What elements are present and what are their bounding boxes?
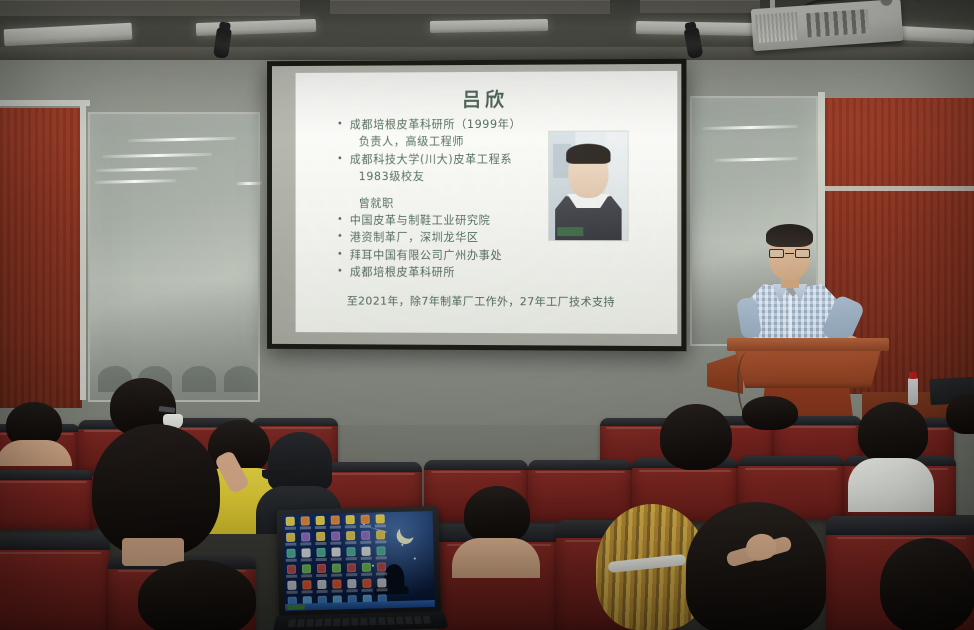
desktop-icon[interactable]	[315, 548, 326, 561]
wall-trim	[80, 100, 86, 400]
desktop-icon[interactable]	[360, 531, 371, 544]
audience-shoulders	[452, 538, 540, 578]
desktop-icon[interactable]	[377, 610, 388, 611]
desktop-icon[interactable]	[286, 581, 297, 594]
desktop-icon[interactable]	[286, 565, 297, 578]
slide-bullet: 拜耳中国有限公司广州办事处	[337, 247, 669, 265]
desktop-icon[interactable]	[345, 547, 356, 560]
audience-head-foreground	[138, 560, 256, 630]
photo-watermark	[557, 227, 583, 236]
desktop-icon[interactable]	[361, 579, 372, 592]
eyeglasses-icon	[768, 249, 811, 258]
presenter-hair	[766, 224, 813, 247]
ceiling-panel	[640, 0, 760, 13]
wall-wood-panel-left	[0, 108, 82, 408]
desktop-icon[interactable]	[316, 564, 327, 577]
seat[interactable]	[0, 470, 94, 530]
desktop-icon[interactable]	[300, 548, 311, 561]
bottle-cap	[909, 372, 917, 379]
desktop-icon[interactable]	[330, 531, 341, 544]
keyboard[interactable]	[288, 616, 433, 627]
laptop-screen[interactable]	[283, 511, 435, 611]
audience-head-foreground	[880, 538, 974, 630]
ceiling-panel	[330, 0, 610, 14]
desktop-icon[interactable]	[301, 564, 312, 577]
desktop-icon[interactable]	[345, 515, 356, 528]
projector-ports	[806, 9, 870, 37]
slide-title: 吕欣	[296, 84, 678, 113]
student-laptop[interactable]	[276, 506, 441, 630]
presentation-slide: 吕欣 成都培根皮革科研所（1999年） 负责人，高级工程师 成都科技大学(川大)…	[296, 71, 678, 334]
desktop-icon[interactable]	[346, 563, 357, 576]
desktop-icon[interactable]	[285, 517, 296, 530]
desktop-icon[interactable]	[375, 514, 386, 527]
audience-head-foreground	[92, 424, 220, 556]
desktop-icon[interactable]	[375, 530, 386, 543]
slide-footer-note: 至2021年，除7年制革厂工作外，27年工厂技术支持	[347, 293, 669, 310]
seat[interactable]	[528, 460, 632, 522]
projection-screen: 吕欣 成都培根皮革科研所（1999年） 负责人，高级工程师 成都科技大学(川大)…	[267, 59, 686, 351]
projector-knob	[880, 0, 893, 6]
audience-head	[858, 402, 928, 464]
desktop-icon[interactable]	[301, 580, 312, 593]
desktop-icon[interactable]	[330, 515, 341, 528]
desktop-icon-grid[interactable]	[285, 514, 392, 611]
cap-brim	[262, 470, 306, 481]
desktop-icon[interactable]	[376, 578, 387, 591]
wall-trim	[0, 100, 90, 106]
projector-vent	[755, 12, 799, 43]
audience-head	[660, 404, 732, 470]
desktop-icon[interactable]	[360, 515, 371, 528]
audience-head	[742, 396, 798, 430]
ceiling-panel	[0, 0, 300, 16]
desktop-icon[interactable]	[285, 549, 296, 562]
desktop-icon[interactable]	[376, 562, 387, 575]
lecture-hall-photo: 吕欣 成都培根皮革科研所（1999年） 负责人，高级工程师 成都科技大学(川大)…	[0, 0, 974, 630]
desktop-icon[interactable]	[331, 579, 342, 592]
wall-trim	[825, 186, 974, 191]
desktop-icon[interactable]	[346, 579, 357, 592]
laptop-lid	[276, 506, 441, 616]
desktop-icon[interactable]	[375, 546, 386, 559]
desktop-icon[interactable]	[315, 532, 326, 545]
water-bottle	[908, 378, 918, 405]
seat[interactable]	[0, 534, 110, 630]
desktop-icon[interactable]	[360, 547, 371, 560]
desktop-icon[interactable]	[361, 563, 372, 576]
audience-head-long-hair	[686, 502, 826, 630]
desktop-icon[interactable]	[285, 533, 296, 546]
desktop-icon[interactable]	[330, 547, 341, 560]
desktop-icon[interactable]	[345, 531, 356, 544]
ceiling-beam	[0, 47, 974, 60]
desktop-icon[interactable]	[300, 532, 311, 545]
slide-portrait-photo	[549, 132, 628, 241]
desktop-icon[interactable]	[315, 516, 326, 529]
baseball-cap-icon	[268, 432, 332, 490]
ceiling-light-fixture	[430, 19, 548, 33]
audience-shoulders	[848, 458, 934, 512]
slide-bullet: 成都培根皮革科研所	[337, 264, 669, 282]
audience-head	[464, 486, 530, 544]
whiteboard-left	[88, 112, 260, 402]
moon-icon	[398, 519, 420, 541]
desktop-icon[interactable]	[300, 516, 311, 529]
desktop-icon[interactable]	[331, 563, 342, 576]
desktop-icon[interactable]	[316, 580, 327, 593]
